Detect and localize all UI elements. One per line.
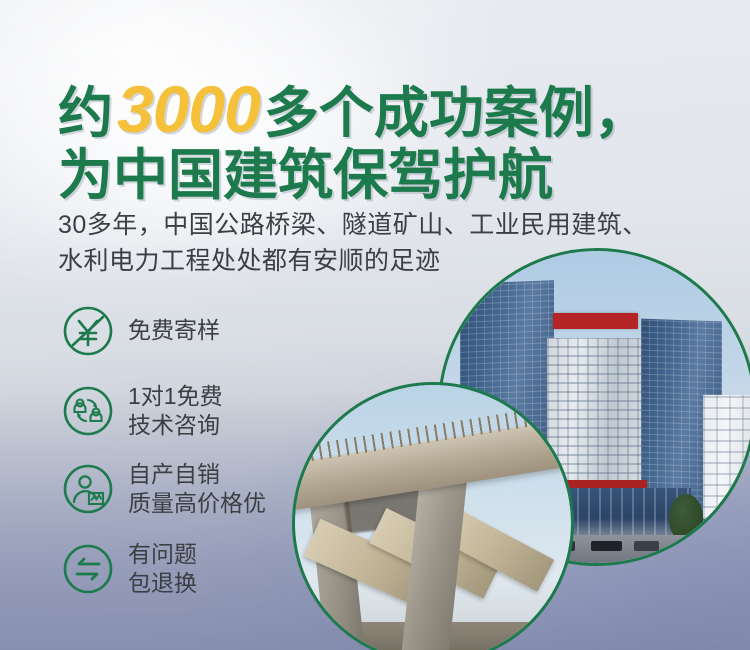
subtitle-line-1: 30多年，中国公路桥梁、隧道矿山、工业民用建筑、 (58, 208, 648, 244)
headline-line-2: 为中国建筑保驾护航 (58, 148, 649, 203)
feature-line-2: 包退换 (128, 570, 197, 596)
headline-suffix: 多个成功案例， (264, 82, 649, 144)
car (634, 541, 659, 551)
feature-text: 1对1免费 技术咨询 (128, 382, 223, 441)
rooftop-sign (553, 313, 637, 329)
bridge-photo-scene (295, 385, 571, 650)
headline-prefix: 约 (58, 82, 113, 144)
exchange-arrows-icon (62, 543, 114, 595)
tower-white (703, 395, 750, 520)
feature-item-return-exchange: 有问题 包退换 (62, 538, 266, 600)
headline-line-1: 约3000多个成功案例， (58, 76, 649, 142)
feature-line-1: 有问题 (128, 541, 197, 567)
feature-line-2: 质量高价格优 (128, 490, 266, 516)
feature-line-2: 技术咨询 (128, 412, 220, 438)
two-people-exchange-icon (62, 385, 114, 437)
feature-text: 自产自销 质量高价格优 (128, 460, 266, 519)
feature-item-free-sample: 免费寄样 (62, 300, 266, 362)
feature-list: 免费寄样 1对1免费 技术咨询 (62, 300, 266, 618)
promo-banner: 约3000多个成功案例， 为中国建筑保驾护航 30多年，中国公路桥梁、隧道矿山、… (0, 0, 750, 650)
subtitle-block: 30多年，中国公路桥梁、隧道矿山、工业民用建筑、 水利电力工程处处都有安顺的足迹 (58, 208, 648, 279)
feature-line-1: 免费寄样 (128, 317, 220, 343)
feature-text: 有问题 包退换 (128, 540, 197, 599)
headline-number: 3000 (113, 72, 264, 146)
person-chart-icon (62, 463, 114, 515)
car (591, 541, 622, 551)
no-fee-yuan-icon (62, 305, 114, 357)
bridge-photo (292, 382, 574, 650)
feature-text: 免费寄样 (128, 316, 220, 345)
feature-line-1: 自产自销 (128, 461, 220, 487)
subtitle-line-2: 水利电力工程处处都有安顺的足迹 (58, 244, 648, 280)
feature-line-1: 1对1免费 (128, 383, 223, 409)
headline-block: 约3000多个成功案例， 为中国建筑保驾护航 (58, 76, 649, 203)
feature-item-consultation: 1对1免费 技术咨询 (62, 380, 266, 442)
feature-item-self-production: 自产自销 质量高价格优 (62, 458, 266, 520)
